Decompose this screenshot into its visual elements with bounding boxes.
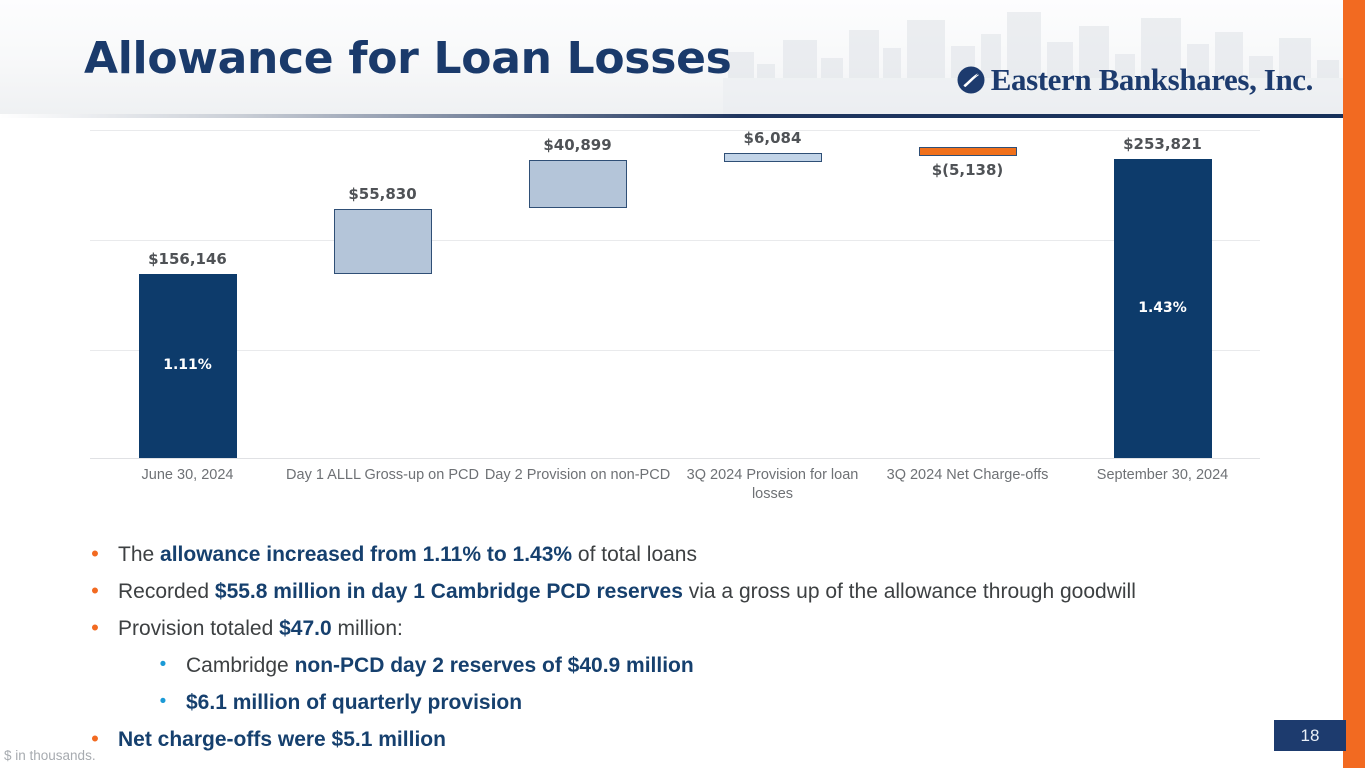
chart-bar (529, 160, 627, 208)
slide: Allowance for Loan Losses Eastern Banksh… (0, 0, 1365, 768)
chart-category-label: Day 1 ALLL Gross-up on PCD (285, 466, 480, 485)
chart-column: $(5,138) (870, 128, 1065, 458)
bullet-marker-icon: • (72, 575, 118, 606)
bullet-text: Net charge-offs were $5.1 million (118, 723, 446, 756)
bullet-text: The allowance increased from 1.11% to 1.… (118, 538, 697, 571)
slide-header: Allowance for Loan Losses Eastern Banksh… (0, 0, 1343, 118)
chart-value-label: $(5,138) (870, 161, 1065, 179)
chart-category-label: June 30, 2024 (90, 466, 285, 485)
chart-plot-area: $156,1461.11%$55,830$40,899$6,084$(5,138… (90, 128, 1260, 458)
bullet-row: •Provision totaled $47.0 million: (72, 612, 1322, 645)
chart-category-label: Day 2 Provision on non-PCD (480, 466, 675, 485)
chart-column: $156,1461.11% (90, 128, 285, 458)
footnote: $ in thousands. (4, 748, 96, 763)
chart-value-label: $55,830 (285, 185, 480, 203)
chart-column: $253,8211.43% (1065, 128, 1260, 458)
cityscape-background-icon (723, 0, 1343, 118)
bullet-row: •Recorded $55.8 million in day 1 Cambrid… (72, 575, 1322, 608)
bullet-text: Cambridge non-PCD day 2 reserves of $40.… (186, 649, 694, 682)
chart-category-label: September 30, 2024 (1065, 466, 1260, 485)
bullet-marker-icon: • (72, 538, 118, 569)
bullet-row: •Cambridge non-PCD day 2 reserves of $40… (72, 649, 1322, 682)
bullet-marker-icon: • (140, 686, 186, 717)
logo-text: Eastern Bankshares, Inc. (991, 62, 1313, 98)
bullet-text: $6.1 million of quarterly provision (186, 686, 522, 719)
chart-category-label: 3Q 2024 Provision for loan losses (675, 466, 870, 504)
waterfall-chart: $156,1461.11%$55,830$40,899$6,084$(5,138… (90, 128, 1260, 518)
chart-bar (724, 153, 822, 162)
bullet-row: •Net charge-offs were $5.1 million (72, 723, 1322, 756)
bullet-marker-icon: • (72, 612, 118, 643)
chart-column: $55,830 (285, 128, 480, 458)
chart-value-label: $253,821 (1065, 135, 1260, 153)
bullet-marker-icon: • (140, 649, 186, 680)
right-accent-strip (1343, 0, 1365, 768)
eastern-swirl-icon (956, 65, 986, 95)
chart-column: $6,084 (675, 128, 870, 458)
chart-column: $40,899 (480, 128, 675, 458)
bullet-list: •The allowance increased from 1.11% to 1… (72, 538, 1322, 760)
header-divider (0, 114, 1343, 118)
company-logo: Eastern Bankshares, Inc. (956, 62, 1313, 98)
chart-bar (334, 209, 432, 275)
bullet-row: •$6.1 million of quarterly provision (72, 686, 1322, 719)
bullet-text: Provision totaled $47.0 million: (118, 612, 403, 645)
chart-category-labels: June 30, 2024Day 1 ALLL Gross-up on PCDD… (90, 466, 1260, 518)
page-title: Allowance for Loan Losses (84, 33, 732, 84)
page-number-badge: 18 (1274, 720, 1346, 751)
chart-bar (919, 147, 1017, 156)
chart-value-label: $40,899 (480, 136, 675, 154)
bullet-row: •The allowance increased from 1.11% to 1… (72, 538, 1322, 571)
chart-value-label: $6,084 (675, 129, 870, 147)
chart-value-label: $156,146 (90, 250, 285, 268)
bullet-text: Recorded $55.8 million in day 1 Cambridg… (118, 575, 1136, 608)
chart-category-label: 3Q 2024 Net Charge-offs (870, 466, 1065, 485)
x-axis-line (90, 458, 1260, 459)
chart-ratio-label: 1.43% (1065, 300, 1260, 316)
chart-ratio-label: 1.11% (90, 357, 285, 373)
